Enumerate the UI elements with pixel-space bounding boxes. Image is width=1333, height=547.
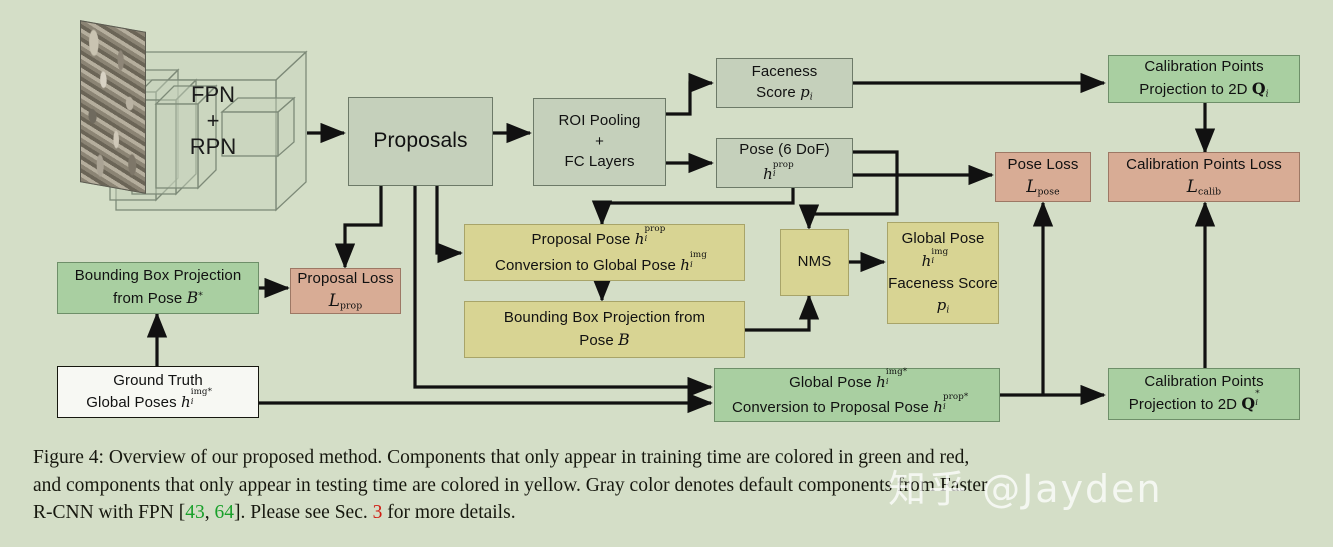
faceness-symbol: p — [800, 83, 810, 101]
gpout-line2: himgi — [922, 252, 965, 272]
calibq-symbol: Q — [1252, 79, 1266, 98]
calibloss-line1: Calibration Points Loss — [1126, 156, 1282, 175]
gpconv-line2-symbol: h — [933, 398, 943, 416]
propconv-line1-sub: i — [644, 234, 647, 245]
gpout-line2-symbol: h — [922, 252, 932, 270]
gpconv-line1-sub: i — [886, 377, 889, 388]
node-proposal-loss[interactable]: Proposal Loss Lprop — [290, 268, 401, 314]
faceness-line1: Faceness — [752, 63, 818, 82]
poseloss-line2: Lpose — [1026, 176, 1059, 198]
gpconv-line2-sub: i — [943, 402, 946, 413]
caption-line-2: and components that only appear in testi… — [33, 472, 1305, 500]
backbone-illustration: FPN + RPN — [70, 22, 350, 222]
caption-line3-post: for more details. — [382, 502, 515, 523]
gpconv-line1: Global Pose himg*i — [789, 373, 925, 393]
node-proposal-pose-conversion[interactable]: Proposal Pose hpropi Conversion to Globa… — [464, 224, 745, 281]
caption-line3-mid: ]. Please see Sec. — [234, 502, 373, 523]
backbone-label-line2: + — [158, 108, 268, 134]
arrow-proposals-to-proposal-loss — [345, 186, 381, 267]
gpconv-line2-sup: prop* — [943, 392, 968, 403]
propconv-line1-symbol: h — [635, 230, 645, 248]
poseloss-symbol: L — [1026, 176, 1037, 196]
gt-symbol: h — [181, 393, 191, 411]
pose6dof-symbol-line: hpropi — [763, 165, 806, 185]
input-image-thumbnail — [80, 20, 146, 194]
gpout-line4-sub: i — [946, 304, 949, 315]
propconv-line2: Conversion to Global Pose himgi — [495, 256, 714, 276]
bboxstar-line2-text: from Pose — [113, 290, 187, 307]
gpout-line2-sub: i — [931, 256, 934, 267]
calibqstar-line2-text: Projection to 2D — [1129, 396, 1242, 413]
bboxstar-line2: from Pose B* — [113, 288, 203, 309]
pose6dof-line1: Pose (6 DoF) — [739, 141, 829, 160]
roi-line1: ROI Pooling — [559, 112, 641, 131]
gpconv-line1-sup: img* — [886, 367, 907, 378]
bboxstar-symbol: B — [187, 288, 199, 307]
caption-line-1: Figure 4: Overview of our proposed metho… — [33, 444, 1305, 472]
gpconv-line1-symbol: h — [876, 373, 886, 391]
node-faceness-score[interactable]: Faceness Score pi — [716, 58, 853, 108]
proposals-label: Proposals — [373, 128, 467, 154]
propconv-line1: Proposal Pose hpropi — [532, 230, 678, 250]
faceness-line2: Score pi — [756, 83, 813, 103]
figure-canvas: FPN + RPN Proposals ROI Pooling + FC Lay… — [0, 0, 1333, 547]
gpout-line4-symbol: p — [937, 296, 947, 314]
calibq-line2: Projection to 2D Qi — [1139, 79, 1269, 100]
arrow-roi-to-faceness — [666, 83, 712, 114]
pose6dof-symbol: h — [763, 165, 773, 183]
backbone-label: FPN + RPN — [158, 82, 268, 160]
node-calibration-points-projection-star[interactable]: Calibration Points Projection to 2D Q*i — [1108, 368, 1300, 420]
bboxb-symbol: B — [618, 330, 630, 349]
calibloss-symbol: L — [1187, 176, 1198, 196]
node-pose-6dof[interactable]: Pose (6 DoF) hpropi — [716, 138, 853, 188]
poseloss-sub: pose — [1038, 186, 1060, 197]
gt-line2: Global Poses himg*i — [86, 393, 229, 413]
node-bbox-projection-b[interactable]: Bounding Box Projection from Pose B — [464, 301, 745, 358]
citation-ref-64[interactable]: 64 — [214, 502, 234, 523]
faceness-symbol-sub: i — [810, 92, 813, 103]
calibqstar-sub: i — [1255, 398, 1258, 409]
node-roi-pooling[interactable]: ROI Pooling + FC Layers — [533, 98, 666, 186]
calibq-line2-text: Projection to 2D — [1139, 81, 1252, 98]
arrow-bbox-to-nms — [745, 296, 809, 330]
faceness-line2-text: Score — [756, 84, 796, 101]
proploss-line2: Lprop — [329, 290, 363, 312]
backbone-label-line1: FPN — [158, 82, 268, 108]
calibqstar-line1: Calibration Points — [1144, 373, 1263, 392]
node-pose-loss[interactable]: Pose Loss Lpose — [995, 152, 1091, 202]
roi-line3: FC Layers — [564, 153, 634, 172]
nms-label: NMS — [798, 253, 832, 272]
arrow-pose-to-proposal-pose — [602, 188, 793, 224]
poseloss-line1: Pose Loss — [1008, 156, 1079, 175]
gt-sup: img* — [191, 387, 212, 398]
section-ref-3[interactable]: 3 — [373, 502, 383, 523]
citation-ref-43[interactable]: 43 — [185, 502, 205, 523]
caption-line-3: R-CNN with FPN [43, 64]. Please see Sec.… — [33, 499, 1305, 527]
bboxb-line1: Bounding Box Projection from — [504, 309, 705, 328]
node-global-pose-conversion[interactable]: Global Pose himg*i Conversion to Proposa… — [714, 368, 1000, 422]
propconv-line2-text: Conversion to Global Pose — [495, 257, 680, 274]
proploss-line1: Proposal Loss — [297, 270, 393, 289]
propconv-line2-sub: i — [690, 260, 693, 271]
gpout-line3: Faceness Score — [888, 275, 998, 294]
calibqstar-line2: Projection to 2D Q*i — [1129, 394, 1279, 415]
bboxb-line2-text: Pose — [579, 332, 618, 349]
calibq-sub: i — [1266, 88, 1269, 99]
node-calibration-points-projection[interactable]: Calibration Points Projection to 2D Qi — [1108, 55, 1300, 103]
roi-line2: + — [595, 133, 604, 152]
pose6dof-sub: i — [773, 169, 776, 180]
node-nms[interactable]: NMS — [780, 229, 849, 296]
propconv-line1-text: Proposal Pose — [532, 231, 635, 248]
calibloss-sub: calib — [1198, 186, 1221, 197]
node-bbox-projection-bstar[interactable]: Bounding Box Projection from Pose B* — [57, 262, 259, 314]
figure-caption: Figure 4: Overview of our proposed metho… — [33, 444, 1305, 527]
node-calibration-points-loss[interactable]: Calibration Points Loss Lcalib — [1108, 152, 1300, 202]
gt-line2-text: Global Poses — [86, 394, 181, 411]
bboxstar-sup: * — [198, 291, 203, 301]
pose6dof-sup: prop — [773, 160, 794, 171]
gpout-line4: pi — [937, 296, 950, 316]
propconv-line1-sup: prop — [644, 224, 665, 235]
caption-line3-pre: R-CNN with FPN [ — [33, 502, 185, 523]
proploss-sub: prop — [340, 300, 362, 311]
gt-sub: i — [191, 397, 194, 408]
gpconv-line2: Conversion to Proposal Pose hprop*i — [732, 398, 982, 418]
proploss-symbol: L — [329, 290, 340, 310]
node-ground-truth[interactable]: Ground Truth Global Poses himg*i — [57, 366, 259, 418]
calibq-line1: Calibration Points — [1144, 58, 1263, 77]
calibloss-line2: Lcalib — [1187, 176, 1221, 198]
propconv-line2-symbol: h — [680, 256, 690, 274]
bboxstar-line1: Bounding Box Projection — [75, 267, 242, 286]
calibqstar-symbol: Q — [1241, 394, 1255, 413]
arrow-proposals-to-proposal-pose — [437, 186, 461, 253]
backbone-label-line3: RPN — [158, 134, 268, 160]
node-global-pose-output[interactable]: Global Pose himgi Faceness Score pi — [887, 222, 999, 324]
gpconv-line1-text: Global Pose — [789, 374, 876, 391]
gt-line1: Ground Truth — [113, 372, 203, 391]
gpconv-line2-text: Conversion to Proposal Pose — [732, 399, 933, 416]
node-proposals[interactable]: Proposals — [348, 97, 493, 186]
bboxb-line2: Pose B — [579, 330, 630, 351]
